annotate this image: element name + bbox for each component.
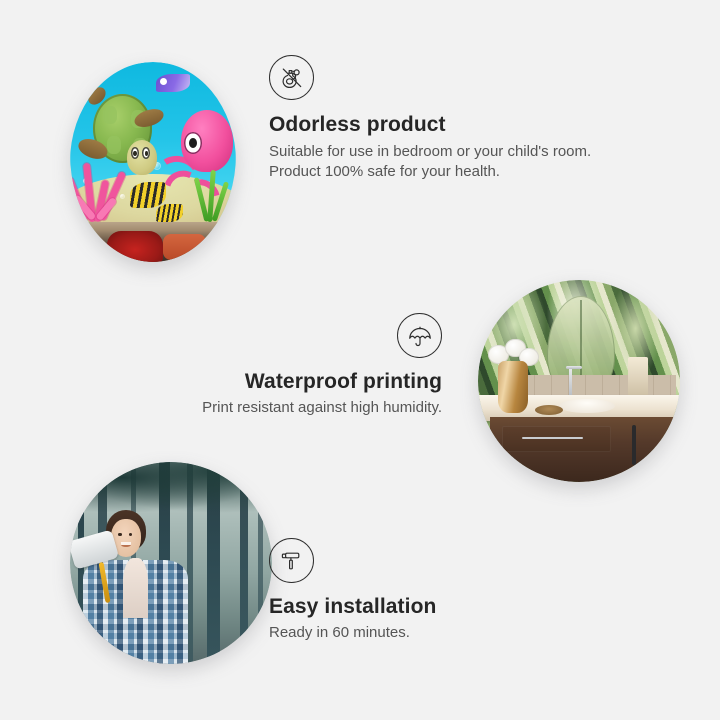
tile-backsplash [518,375,676,395]
feature-title: Waterproof printing [142,370,442,394]
feature-title: Easy installation [269,595,589,619]
striped-fish [130,182,167,208]
paint-roller-icon [269,538,314,583]
feature-description: Print resistant against high humidity. [142,398,442,418]
no-odor-spray-bottle-icon [269,55,314,100]
seagrass [196,170,226,222]
feature-description: Ready in 60 minutes. [269,623,589,643]
purple-fish [156,74,189,92]
wood-vanity [490,417,680,482]
bathroom-tropical-wallpaper-photo [478,280,680,482]
soap-dispenser [628,357,648,397]
room-furniture-strip [70,222,236,262]
feature-title: Odorless product [269,113,609,137]
promo-feature-stage: Odorless product Suitable for use in bed… [0,0,720,720]
gold-vase [498,361,528,414]
paint-roller-held [71,535,123,607]
feature-description: Suitable for use in bedroom or your chil… [269,142,609,182]
feature-odorless: Odorless product Suitable for use in bed… [269,55,609,182]
woman-figure [78,506,195,664]
feature-installation: Easy installation Ready in 60 minutes. [269,538,589,643]
umbrella-icon [397,313,442,358]
pink-coral [70,158,136,222]
faucet [569,369,572,397]
striped-fish [156,204,183,222]
feature-waterproof: Waterproof printing Print resistant agai… [142,313,442,418]
underwater-cartoon-mural-photo [70,62,236,262]
woman-paint-roller-forest-photo [70,462,272,664]
